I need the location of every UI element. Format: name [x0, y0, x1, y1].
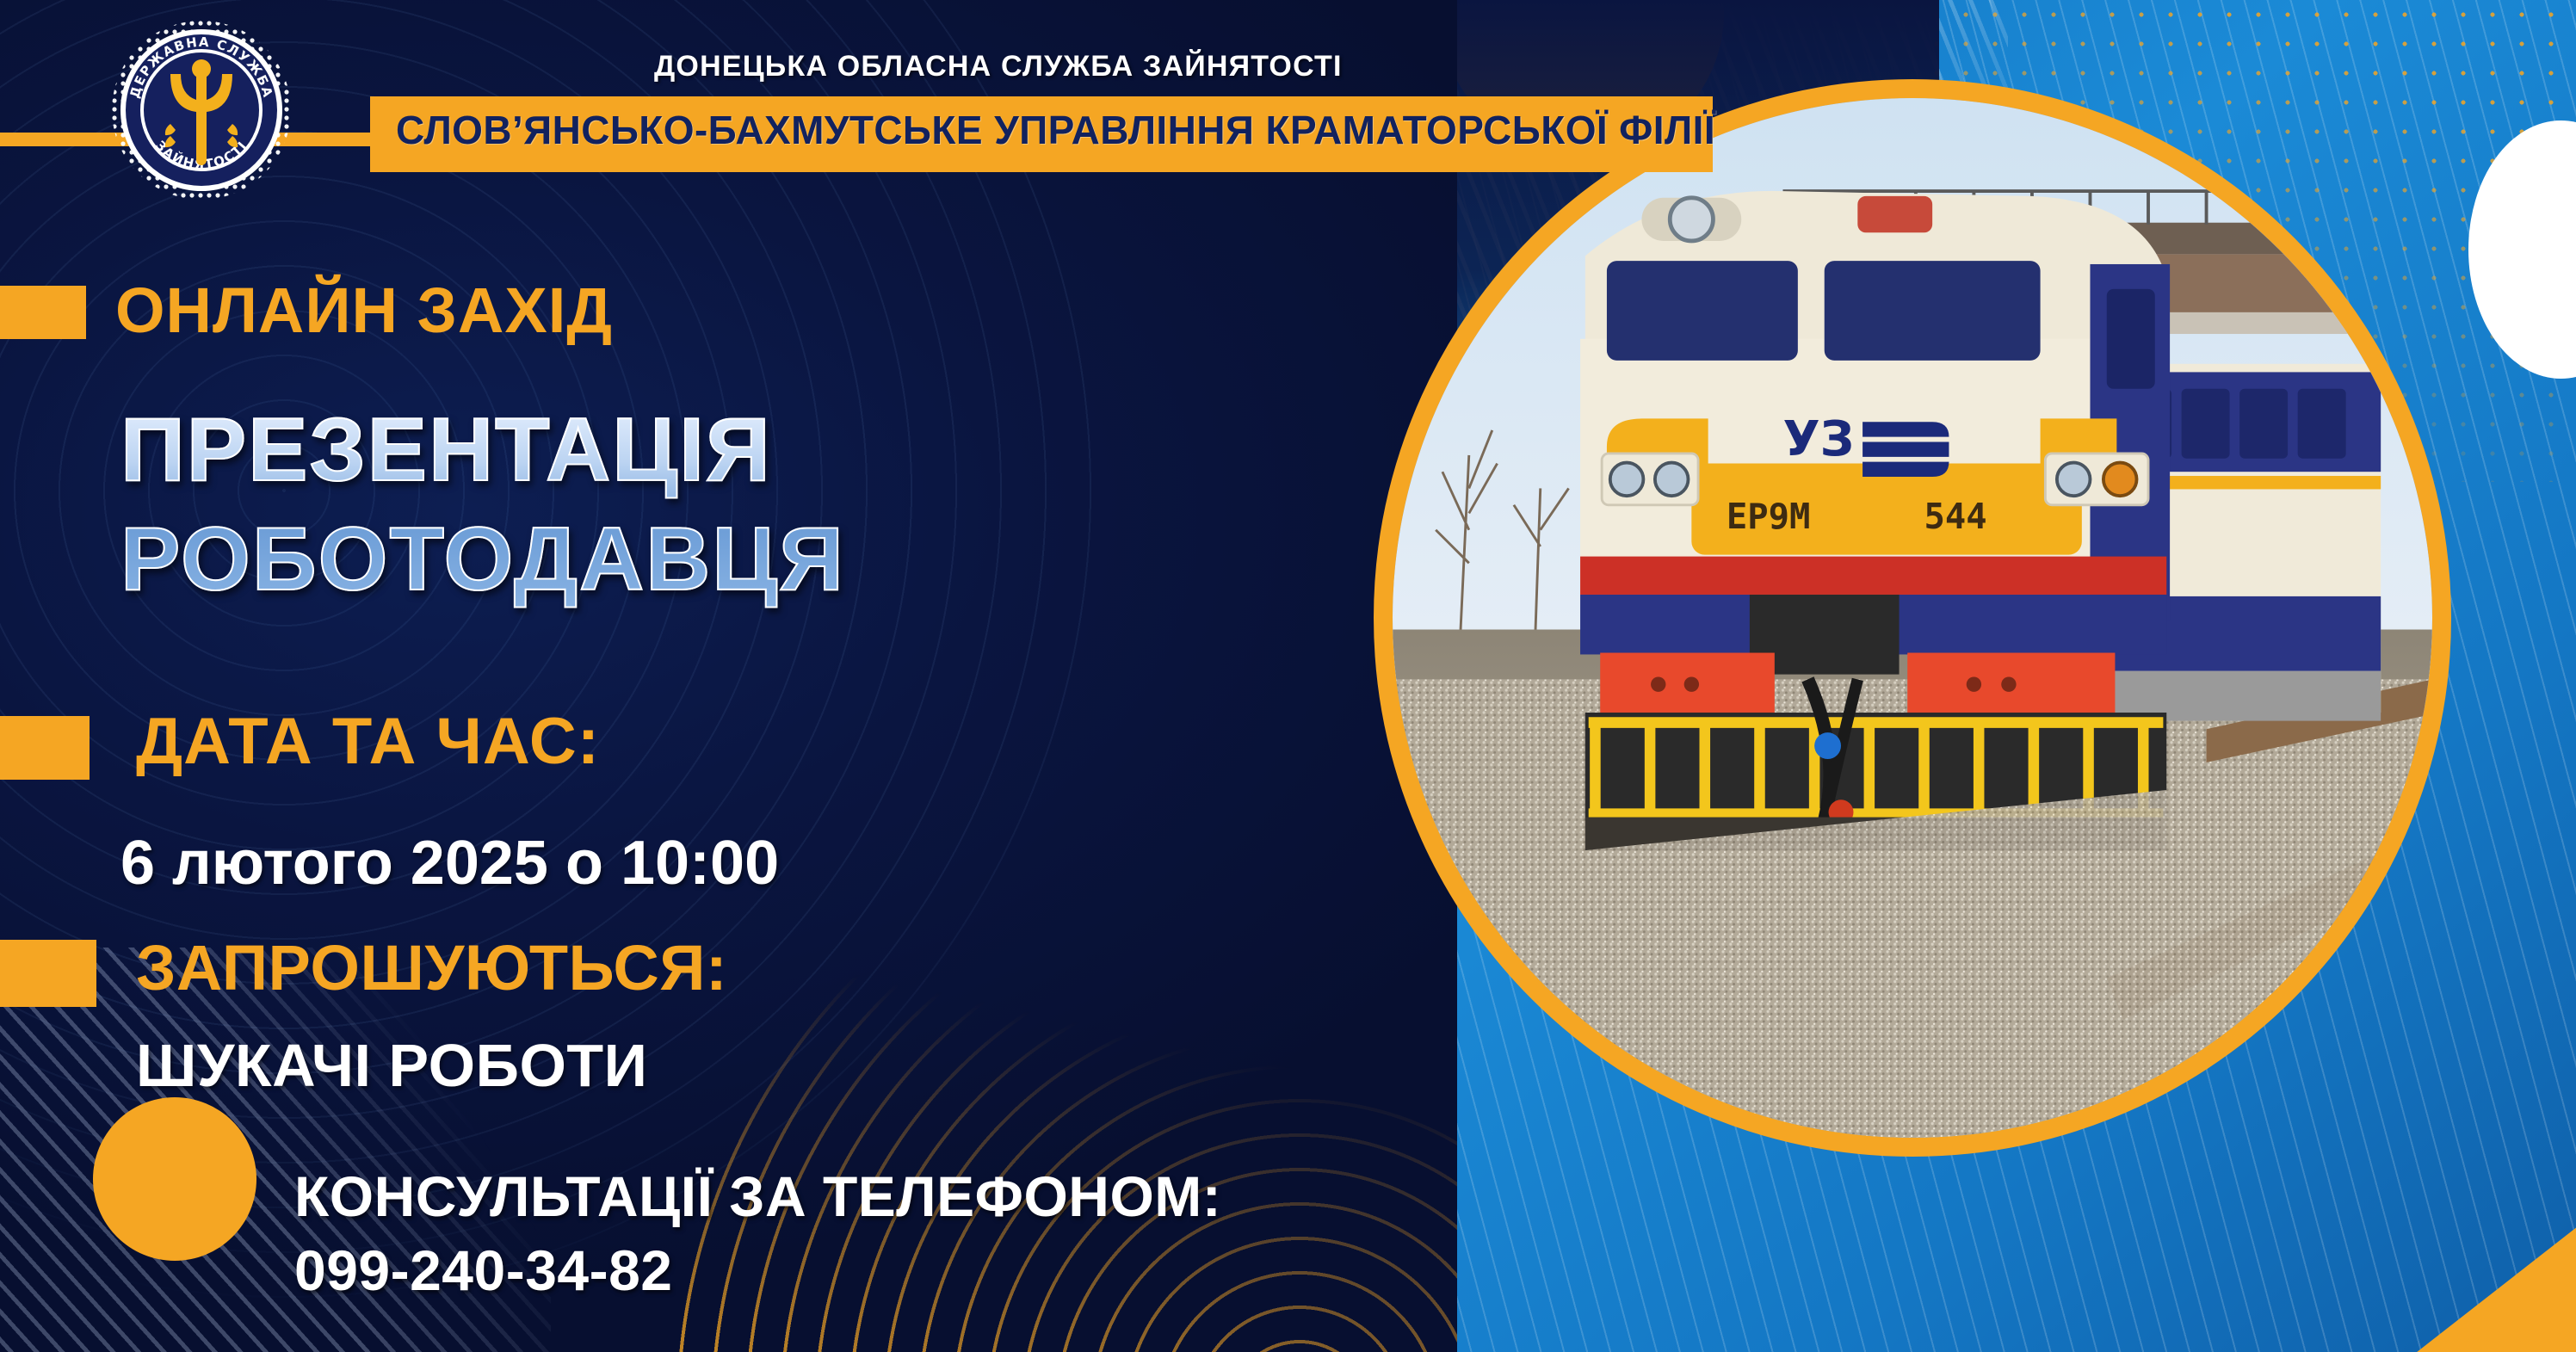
online-event-marker	[0, 286, 86, 339]
date-value: 6 лютого 2025 о 10:00	[120, 828, 779, 898]
svg-text:544: 544	[1924, 496, 1987, 537]
event-type-label: ОНЛАЙН ЗАХІД	[115, 274, 613, 347]
poster-canvas: УЗ ЕР9М 544	[0, 0, 2576, 1352]
train-photo: УЗ ЕР9М 544	[1393, 98, 2432, 1138]
organization-title: ДОНЕЦЬКА ОБЛАСНА СЛУЖБА ЗАЙНЯТОСТІ	[654, 50, 1343, 83]
phone-number[interactable]: 099-240-34-82	[294, 1238, 673, 1303]
phone-label: КОНСУЛЬТАЦІЇ ЗА ТЕЛЕФОНОМ:	[294, 1164, 1221, 1229]
state-employment-service-logo-icon: ДЕРЖАВНА СЛУЖБА ЗАЙНЯТОСТІ	[110, 19, 293, 201]
page-title: ПРЕЗЕНТАЦІЯ РОБОТОДАВЦЯ	[120, 396, 1067, 614]
bottom-left-circle-decoration	[93, 1097, 256, 1261]
bottom-right-orange-bar	[1947, 1163, 2576, 1352]
invite-label: ЗАПРОШУЮТЬСЯ:	[136, 931, 727, 1004]
title-line-2: РОБОТОДАВЦЯ	[120, 505, 1067, 614]
invite-value: ШУКАЧІ РОБОТИ	[136, 1031, 647, 1100]
svg-text:ЕР9М: ЕР9М	[1727, 496, 1811, 537]
department-title: СЛОВ’ЯНСЬКО-БАХМУТСЬКЕ УПРАВЛІННЯ КРАМАТ…	[396, 107, 1721, 153]
svg-text:УЗ: УЗ	[1782, 411, 1854, 467]
invite-marker	[0, 940, 96, 1007]
title-line-1: ПРЕЗЕНТАЦІЯ	[120, 396, 1067, 505]
date-marker	[0, 716, 90, 780]
train-photo-circle: УЗ ЕР9М 544	[1374, 79, 2451, 1157]
date-label: ДАТА ТА ЧАС:	[136, 704, 600, 779]
